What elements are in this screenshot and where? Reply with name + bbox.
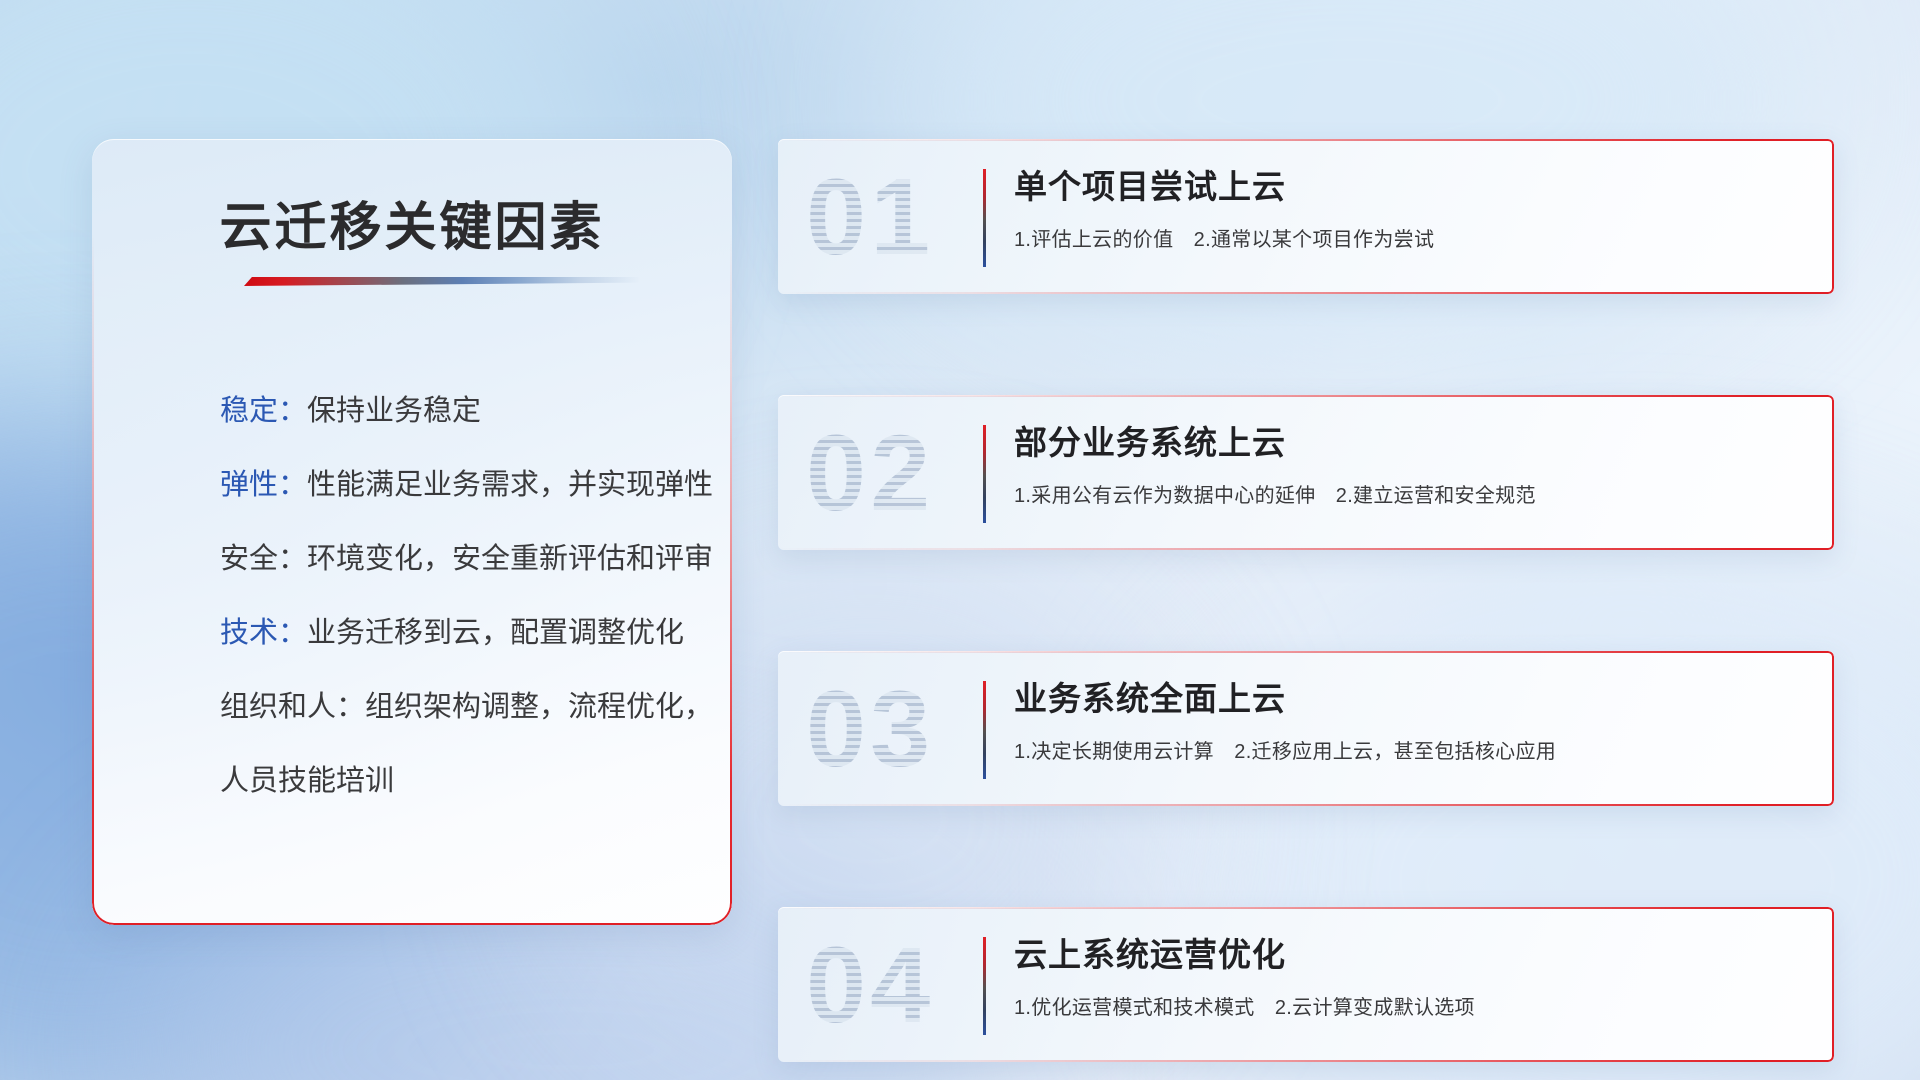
card-divider (983, 425, 986, 523)
stage-subtitle: 1.优化运营模式和技术模式 2.云计算变成默认选项 (1014, 994, 1804, 1022)
card-divider (983, 169, 986, 267)
factor-row: 弹性：性能满足业务需求，并实现弹性 (220, 448, 692, 522)
stage-number: 01 (806, 163, 934, 271)
stage-card-03[interactable]: 03 03 业务系统全面上云 1.决定长期使用云计算 2.迁移应用上云，甚至包括… (778, 651, 1834, 806)
factor-text: 业务迁移到云，配置调整优化 (307, 617, 684, 649)
factor-row: 稳定：保持业务稳定 (220, 374, 692, 448)
stage-card-04[interactable]: 04 04 云上系统运营优化 1.优化运营模式和技术模式 2.云计算变成默认选项 (778, 907, 1834, 1062)
card-body: 部分业务系统上云 1.采用公有云作为数据中心的延伸 2.建立运营和安全规范 (1014, 421, 1804, 510)
card-divider (983, 681, 986, 779)
card-body: 云上系统运营优化 1.优化运营模式和技术模式 2.云计算变成默认选项 (1014, 933, 1804, 1022)
stage-subtitle: 1.采用公有云作为数据中心的延伸 2.建立运营和安全规范 (1014, 482, 1804, 510)
stage-subtitle: 1.决定长期使用云计算 2.迁移应用上云，甚至包括核心应用 (1014, 738, 1804, 766)
stage-title: 云上系统运营优化 (1014, 933, 1804, 977)
page-title: 云迁移关键因素 (92, 185, 732, 260)
factor-text: 人员技能培训 (220, 765, 394, 797)
card-body: 单个项目尝试上云 1.评估上云的价值 2.通常以某个项目作为尝试 (1014, 165, 1804, 254)
key-factors-panel: 云迁移关键因素 稳定：保持业务稳定 弹性：性能满足业务需求，并实现弹性 安全：环… (92, 139, 732, 925)
slide-canvas: 云迁移关键因素 稳定：保持业务稳定 弹性：性能满足业务需求，并实现弹性 安全：环… (0, 0, 1920, 1080)
factor-text: 环境变化，安全重新评估和评审 (307, 543, 713, 575)
stage-card-02[interactable]: 02 02 部分业务系统上云 1.采用公有云作为数据中心的延伸 2.建立运营和安… (778, 395, 1834, 550)
title-underline-accent (244, 277, 640, 286)
factor-label: 稳定： (220, 395, 307, 427)
stage-title: 部分业务系统上云 (1014, 421, 1804, 465)
factor-row: 技术：业务迁移到云，配置调整优化 (220, 596, 692, 670)
factor-row: 安全：环境变化，安全重新评估和评审 (220, 522, 692, 596)
card-body: 业务系统全面上云 1.决定长期使用云计算 2.迁移应用上云，甚至包括核心应用 (1014, 677, 1804, 766)
stage-number: 04 (806, 931, 934, 1039)
factor-row: 组织和人：组织架构调整，流程优化， (220, 670, 692, 744)
factor-label: 安全： (220, 543, 307, 575)
factor-text: 组织架构调整，流程优化， (365, 691, 713, 723)
stage-subtitle: 1.评估上云的价值 2.通常以某个项目作为尝试 (1014, 226, 1804, 254)
migration-stage-card-list: 01 01 单个项目尝试上云 1.评估上云的价值 2.通常以某个项目作为尝试 0… (778, 139, 1834, 1062)
card-divider (983, 937, 986, 1035)
factor-text: 性能满足业务需求，并实现弹性 (307, 469, 713, 501)
factor-text: 保持业务稳定 (307, 395, 481, 427)
factor-list: 稳定：保持业务稳定 弹性：性能满足业务需求，并实现弹性 安全：环境变化，安全重新… (220, 374, 692, 818)
stage-number: 02 (806, 419, 934, 527)
factor-row-continuation: 人员技能培训 (220, 744, 692, 818)
stage-card-01[interactable]: 01 01 单个项目尝试上云 1.评估上云的价值 2.通常以某个项目作为尝试 (778, 139, 1834, 294)
stage-title: 业务系统全面上云 (1014, 677, 1804, 721)
factor-label: 技术： (220, 617, 307, 649)
stage-number: 03 (806, 675, 934, 783)
factor-label: 弹性： (220, 469, 307, 501)
factor-label: 组织和人： (220, 691, 365, 723)
stage-title: 单个项目尝试上云 (1014, 165, 1804, 209)
